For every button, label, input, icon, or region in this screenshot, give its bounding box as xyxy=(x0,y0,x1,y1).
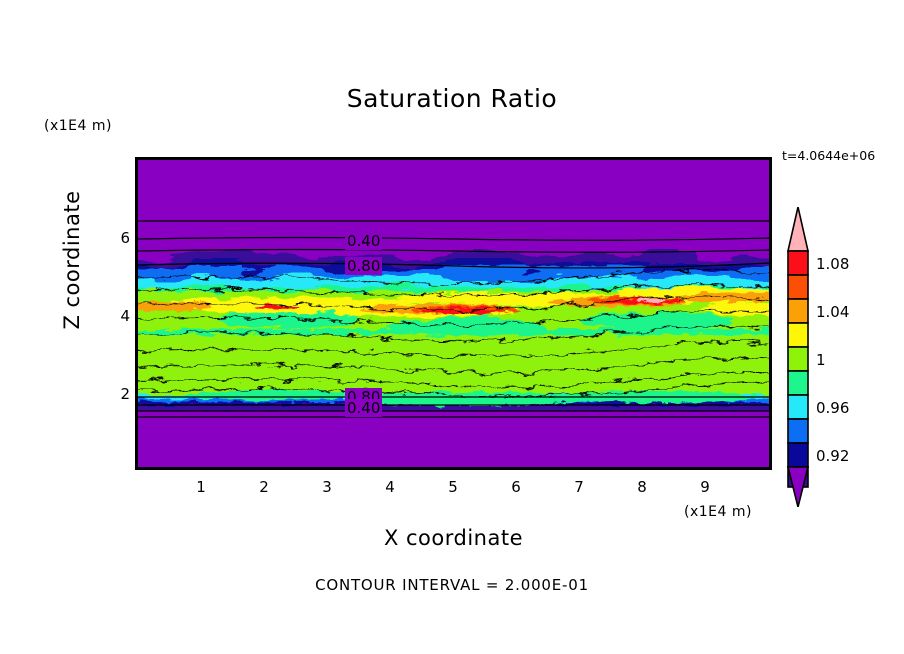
x-tick-9: 9 xyxy=(690,478,720,496)
contour-field xyxy=(137,159,770,468)
x-tick-8: 8 xyxy=(627,478,657,496)
contour-plot-area: 0.40 0.80 0.80 0.40 xyxy=(135,157,772,470)
colorbar-label-108: 1.08 xyxy=(816,255,849,273)
colorbar-cap-top xyxy=(788,207,808,251)
colorbar-label-092: 0.92 xyxy=(816,447,849,465)
y-tick-4: 4 xyxy=(100,307,130,325)
x-tick-6: 6 xyxy=(501,478,531,496)
y-tick-2: 2 xyxy=(100,385,130,403)
colorbar-label-104: 1.04 xyxy=(816,303,849,321)
colorbar-label-1: 1 xyxy=(816,351,826,369)
x-tick-7: 7 xyxy=(564,478,594,496)
x-tick-3: 3 xyxy=(312,478,342,496)
saturation-ratio-figure: Saturation Ratio (x1E4 m) t=4.0644e+06 xyxy=(0,0,904,654)
colorbar-label-096: 0.96 xyxy=(816,399,849,417)
x-tick-2: 2 xyxy=(249,478,279,496)
timestamp-annotation: t=4.0644e+06 xyxy=(782,148,875,163)
colorbar-swatches xyxy=(786,207,810,507)
contour-label-040-upper: 0.40 xyxy=(345,232,382,250)
x-tick-5: 5 xyxy=(438,478,468,496)
contour-interval-note: CONTOUR INTERVAL = 2.000E-01 xyxy=(0,576,904,594)
x-tick-1: 1 xyxy=(186,478,216,496)
contour-label-080-upper: 0.80 xyxy=(345,257,382,275)
x-axis-unit-label: (x1E4 m) xyxy=(684,504,752,520)
page-title: Saturation Ratio xyxy=(0,84,904,113)
y-axis-label: Z coordinate xyxy=(60,180,84,340)
colorbar xyxy=(786,207,810,507)
contour-label-040-lower: 0.40 xyxy=(345,399,382,417)
x-axis-label: X coordinate xyxy=(135,526,772,550)
y-tick-6: 6 xyxy=(100,229,130,247)
x-tick-4: 4 xyxy=(375,478,405,496)
y-axis-unit-label: (x1E4 m) xyxy=(44,118,112,134)
